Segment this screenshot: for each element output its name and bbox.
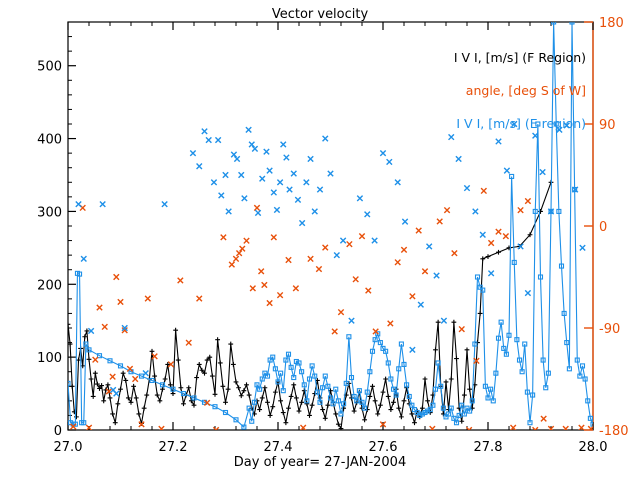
legend-entry-e-region: I V I, [m/s] (E region): [456, 116, 586, 131]
y-right-tick-label: 0: [599, 220, 607, 235]
canvas-background: [0, 0, 640, 480]
y-left-tick-label: 200: [37, 278, 62, 293]
x-tick-label: 27.0: [54, 440, 83, 455]
y-left-tick-label: 400: [37, 133, 62, 148]
chart-title: Vector velocity: [272, 7, 369, 22]
x-tick-label: 28.0: [579, 440, 608, 455]
y-right-tick-label: -180: [599, 424, 629, 439]
y-left-tick-label: 100: [37, 351, 62, 366]
y-right-tick-label: 90: [599, 118, 616, 133]
figure-root: Vector velocity 27.027.227.427.627.828.0…: [0, 0, 640, 480]
x-tick-label: 27.8: [474, 440, 503, 455]
chart-legend: I V I, [m/s] (F Region)angle, [deg S of …: [454, 50, 586, 131]
y-right-tick-label: 180: [599, 16, 624, 31]
y-left-tick-label: 300: [37, 205, 62, 220]
x-axis-label: Day of year= 27-JAN-2004: [234, 455, 406, 470]
vector-velocity-plot: Vector velocity 27.027.227.427.627.828.0…: [0, 0, 640, 480]
legend-entry-f-region: I V I, [m/s] (F Region): [454, 50, 586, 65]
legend-entry-angle: angle, [deg S of W]: [466, 83, 586, 98]
y-left-tick-label: 0: [54, 424, 62, 439]
x-tick-label: 27.4: [264, 440, 293, 455]
x-tick-label: 27.6: [369, 440, 398, 455]
x-tick-label: 27.2: [159, 440, 188, 455]
y-right-tick-label: -90: [599, 322, 620, 337]
y-left-tick-label: 500: [37, 60, 62, 75]
